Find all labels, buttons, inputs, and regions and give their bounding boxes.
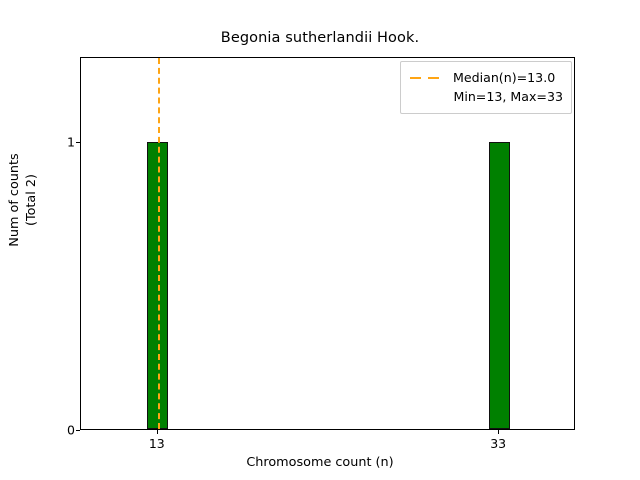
y-axis-label-line2: (Total 2) <box>23 50 40 350</box>
x-tick-mark-13 <box>157 430 158 434</box>
y-tick-mark-0 <box>76 430 80 431</box>
x-tick-label-33: 33 <box>468 436 528 451</box>
y-axis-label-line1: Num of counts <box>6 50 23 350</box>
figure-canvas: Begonia sutherlandii Hook. 1 0 Num of co… <box>0 0 640 480</box>
dashed-line-icon <box>409 72 445 84</box>
legend-item-minmax: Min=13, Max=33 <box>409 87 563 106</box>
bar-33[interactable] <box>489 142 510 429</box>
y-tick-mark-1 <box>76 142 80 143</box>
x-axis-label: Chromosome count (n) <box>0 455 640 470</box>
legend-box: Median(n)=13.0 Min=13, Max=33 <box>400 61 572 114</box>
median-line <box>158 58 160 429</box>
y-tick-label-0: 0 <box>0 423 75 438</box>
legend-label-minmax: Min=13, Max=33 <box>453 89 563 104</box>
x-tick-label-13: 13 <box>127 436 187 451</box>
y-axis-label: Num of counts (Total 2) <box>6 50 42 350</box>
x-tick-mark-33 <box>498 430 499 434</box>
page-title: Begonia sutherlandii Hook. <box>0 30 640 46</box>
legend-label-median: Median(n)=13.0 <box>453 70 555 85</box>
legend-item-median: Median(n)=13.0 <box>409 68 563 87</box>
y-tick-label-1: 1 <box>0 135 75 150</box>
